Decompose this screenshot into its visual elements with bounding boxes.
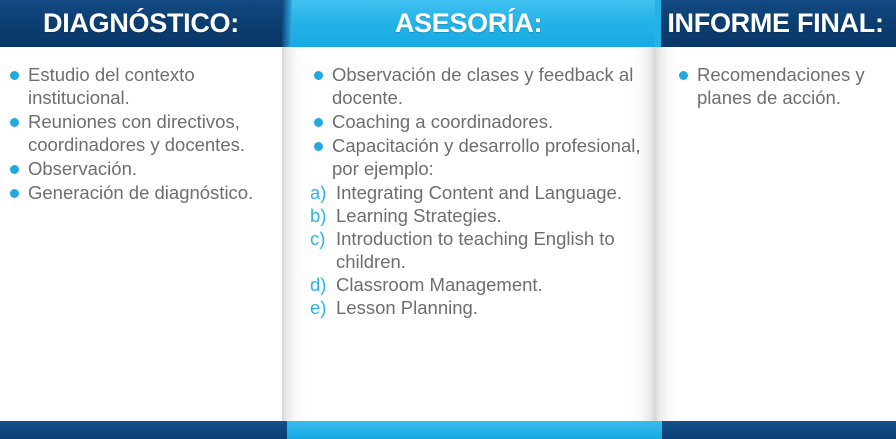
list-item-text: Coaching a coordinadores. bbox=[332, 110, 650, 133]
sublist-item: e) Lesson Planning. bbox=[310, 296, 650, 319]
sublist-item-text: Learning Strategies. bbox=[336, 205, 502, 226]
column-header-asesoria: ASESORÍA: bbox=[282, 0, 655, 47]
column-header-label: ASESORÍA: bbox=[395, 10, 542, 37]
sublist-marker: e) bbox=[310, 296, 326, 319]
footer-band bbox=[0, 421, 896, 439]
column-panel-diagnostico: Estudio del contexto institucional. Reun… bbox=[0, 47, 282, 439]
header-band: DIAGNÓSTICO: ASESORÍA: INFORME FINAL: bbox=[0, 0, 896, 47]
column-header-label: INFORME FINAL: bbox=[667, 10, 883, 37]
column-header-informe-final: INFORME FINAL: bbox=[655, 0, 896, 47]
list-item-text: Capacitación y desarrollo profesional, p… bbox=[332, 134, 650, 180]
list-item: Observación de clases y feedback al doce… bbox=[310, 63, 650, 109]
bullet-dot-icon bbox=[10, 71, 19, 80]
sublist-item: a) Integrating Content and Language. bbox=[310, 181, 650, 204]
column-header-label: DIAGNÓSTICO: bbox=[43, 10, 239, 37]
list-item-text: Observación. bbox=[28, 157, 278, 180]
bullet-list-diagnostico: Estudio del contexto institucional. Reun… bbox=[6, 63, 278, 205]
lettered-sublist-asesoria: a) Integrating Content and Language. b) … bbox=[310, 181, 650, 319]
bullet-list-informe-final: Recomendaciones y planes de acción. bbox=[675, 63, 891, 110]
footer-segment-asesoria bbox=[287, 421, 662, 439]
list-item: Capacitación y desarrollo profesional, p… bbox=[310, 134, 650, 180]
list-item: Reuniones con directivos, coordinadores … bbox=[6, 110, 278, 156]
bullet-dot-icon bbox=[10, 118, 19, 127]
column-panel-asesoria: Observación de clases y feedback al doce… bbox=[282, 47, 655, 439]
list-item-text: Observación de clases y feedback al doce… bbox=[332, 63, 650, 109]
list-item: Recomendaciones y planes de acción. bbox=[675, 63, 891, 109]
list-item: Generación de diagnóstico. bbox=[6, 181, 278, 204]
sublist-item: d) Classroom Management. bbox=[310, 273, 650, 296]
bullet-dot-icon bbox=[10, 189, 19, 198]
process-infographic: DIAGNÓSTICO: ASESORÍA: INFORME FINAL: Es… bbox=[0, 0, 896, 439]
sublist-item-text: Classroom Management. bbox=[336, 274, 543, 295]
sublist-item-text: Lesson Planning. bbox=[336, 297, 478, 318]
sublist-item: c) Introduction to teaching English to c… bbox=[310, 227, 650, 273]
list-item-text: Estudio del contexto institucional. bbox=[28, 63, 278, 109]
sublist-marker: b) bbox=[310, 204, 326, 227]
sublist-item-text: Introduction to teaching English to chil… bbox=[336, 228, 615, 272]
content-asesoria: Observación de clases y feedback al doce… bbox=[310, 63, 650, 319]
sublist-marker: a) bbox=[310, 181, 326, 204]
sublist-item-text: Integrating Content and Language. bbox=[336, 182, 622, 203]
column-panel-informe-final: Recomendaciones y planes de acción. bbox=[655, 47, 896, 439]
list-item-text: Reuniones con directivos, coordinadores … bbox=[28, 110, 278, 156]
bullet-dot-icon bbox=[314, 142, 323, 151]
footer-segment-informe-final bbox=[662, 421, 896, 439]
sublist-marker: d) bbox=[310, 273, 326, 296]
bullet-dot-icon bbox=[314, 118, 323, 127]
sublist-marker: c) bbox=[310, 227, 325, 250]
list-item: Estudio del contexto institucional. bbox=[6, 63, 278, 109]
list-item: Coaching a coordinadores. bbox=[310, 110, 650, 133]
column-header-diagnostico: DIAGNÓSTICO: bbox=[0, 0, 282, 47]
bullet-dot-icon bbox=[314, 71, 323, 80]
list-item-text: Generación de diagnóstico. bbox=[28, 181, 278, 204]
list-item-text: Recomendaciones y planes de acción. bbox=[697, 63, 891, 109]
bullet-dot-icon bbox=[10, 165, 19, 174]
sublist-item: b) Learning Strategies. bbox=[310, 204, 650, 227]
list-item: Observación. bbox=[6, 157, 278, 180]
footer-segment-diagnostico bbox=[0, 421, 287, 439]
bullet-list-asesoria: Observación de clases y feedback al doce… bbox=[310, 63, 650, 180]
bullet-dot-icon bbox=[679, 71, 688, 80]
